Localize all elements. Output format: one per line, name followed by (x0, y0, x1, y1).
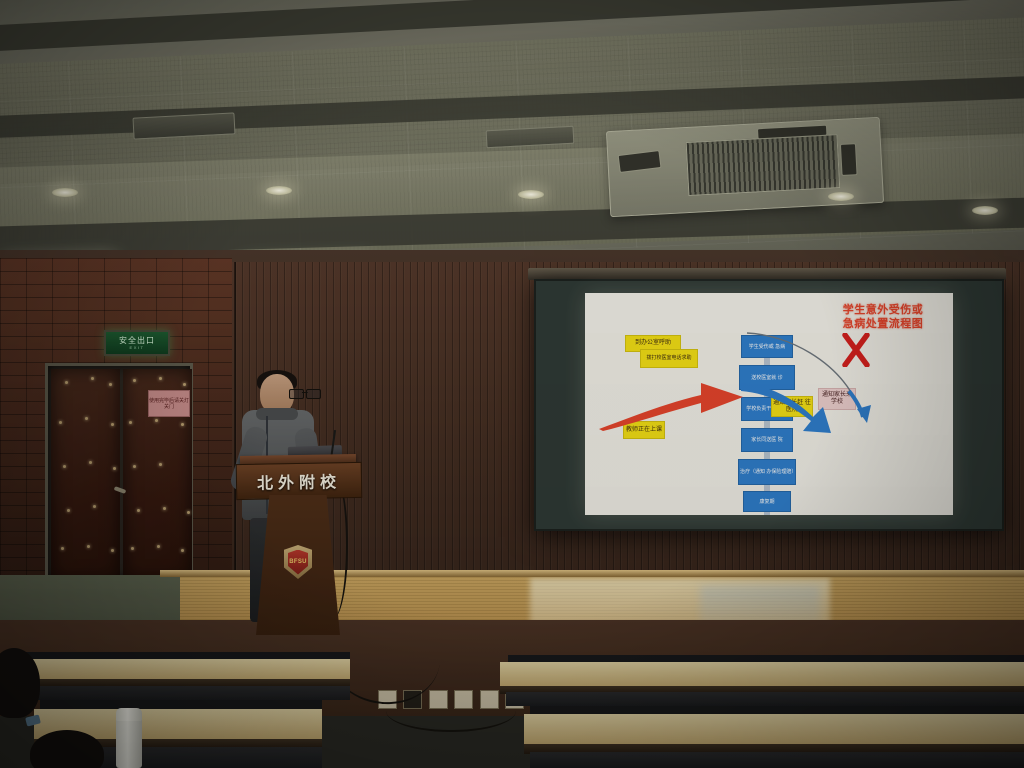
air-conditioner-louver-left (618, 150, 662, 173)
downlight-3 (518, 190, 544, 199)
podium-nameplate: 北外附校 (236, 462, 363, 500)
air-conditioner-louver-right (840, 143, 858, 176)
exit-sign-label-cn: 安全出口 (119, 336, 155, 345)
bench-seat-left-far (18, 686, 350, 700)
flow-connector-6 (764, 512, 770, 515)
bench-desk-right-near (524, 714, 1024, 746)
downlight-2 (266, 186, 292, 195)
callout-call-clinic: 拨打校医室电话求助 (640, 349, 698, 368)
photo-scene: 安全出口 EXIT 使用完毕后请关灯关门 学生意外受 (0, 0, 1024, 768)
downlight-1 (52, 188, 78, 197)
school-emblem-text: BFSU (288, 550, 308, 575)
exit-sign-label-en: EXIT (130, 345, 145, 350)
podium-nameplate-text: 北外附校 (257, 468, 341, 493)
thermos-cap (116, 708, 142, 721)
emergency-exit-sign: 安全出口 EXIT (104, 330, 170, 356)
flow-box-s5: 治疗（通知 办保险理赔） (738, 459, 796, 485)
bench-seat-right-near (530, 752, 1024, 768)
slide-title-line-1: 学生意外受伤或 (825, 303, 941, 317)
door-leaf-left[interactable] (51, 369, 120, 581)
flow-connector-4 (764, 452, 770, 459)
flow-box-s6: 康复期 (743, 491, 791, 512)
downlight-4 (828, 192, 854, 201)
downlight-5 (972, 206, 998, 215)
air-conditioner-grille (686, 134, 841, 196)
ceiling (0, 0, 1024, 268)
presenter-collar (256, 408, 298, 420)
door-notice-sign: 使用完毕后请关灯关门 (148, 390, 190, 417)
glasses-icon (289, 389, 321, 397)
floor-cable-2 (386, 690, 516, 732)
red-arrow-annotation (597, 373, 745, 431)
presentation-slide: 学生意外受伤或 急病处置流程图 学生受伤或 急病 送校医室就 诊 学校负责干 部… (585, 293, 953, 515)
air-conditioner-unit (606, 117, 884, 217)
slide-title: 学生意外受伤或 急病处置流程图 (825, 303, 941, 331)
bench-desk-right-far (500, 662, 1024, 688)
red-x-mark-icon (841, 333, 871, 367)
bench-desk-left-far (12, 659, 350, 681)
bench-seat-right-far (506, 692, 1024, 706)
projection-screen: 学生意外受伤或 急病处置流程图 学生受伤或 急病 送校医室就 诊 学校负责干 部… (534, 279, 1004, 531)
